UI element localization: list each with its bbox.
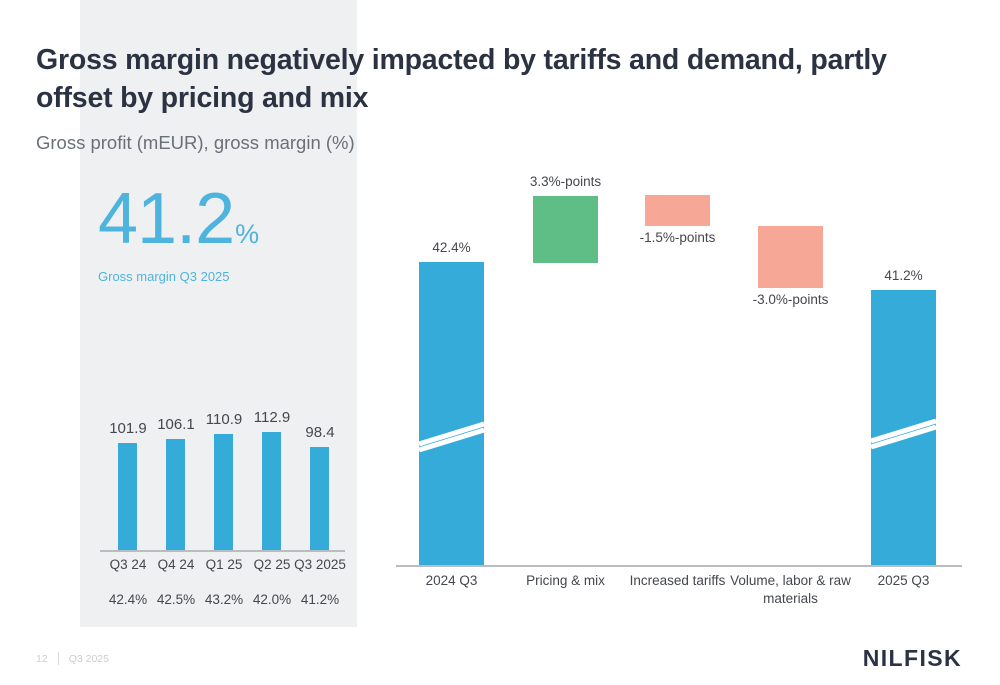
footer-page-number: 12 bbox=[36, 653, 48, 665]
kpi-gross-margin: 41.2% bbox=[98, 183, 259, 255]
mini-bar-value-label: 98.4 bbox=[290, 424, 350, 441]
mini-bar bbox=[118, 443, 137, 550]
nilfisk-logo: NILFISK bbox=[863, 645, 962, 672]
page-subtitle: Gross profit (mEUR), gross margin (%) bbox=[36, 132, 355, 154]
page-title: Gross margin negatively impacted by tari… bbox=[36, 42, 966, 117]
kpi-label: Gross margin Q3 2025 bbox=[98, 269, 230, 284]
waterfall-category-label: Increased tariffs bbox=[603, 572, 753, 590]
mini-chart-axis bbox=[100, 550, 345, 552]
footer: 12 Q3 2025 bbox=[36, 652, 109, 665]
waterfall-category-label: Volume, labor & raw materials bbox=[716, 572, 866, 608]
mini-bar bbox=[166, 439, 185, 550]
mini-bar bbox=[310, 447, 329, 550]
waterfall-category-label: 2024 Q3 bbox=[377, 572, 527, 590]
mini-bar bbox=[262, 432, 281, 550]
slide-canvas: Gross margin negatively impacted by tari… bbox=[0, 0, 1000, 685]
waterfall-bar bbox=[645, 195, 710, 226]
waterfall-bar bbox=[533, 196, 598, 263]
mini-bar-category-label: Q3 2025 bbox=[290, 557, 350, 572]
waterfall-category-label: 2025 Q3 bbox=[829, 572, 979, 590]
axis-break-mark-icon bbox=[871, 415, 936, 449]
waterfall-value-label: -3.0%-points bbox=[716, 292, 866, 307]
kpi-unit: % bbox=[235, 219, 259, 249]
waterfall-value-label: 3.3%-points bbox=[491, 174, 641, 189]
waterfall-value-label: 41.2% bbox=[829, 268, 979, 283]
footer-period: Q3 2025 bbox=[69, 653, 109, 665]
waterfall-category-label: Pricing & mix bbox=[491, 572, 641, 590]
mini-bar bbox=[214, 434, 233, 550]
waterfall-bar bbox=[758, 226, 823, 288]
waterfall-value-label: 42.4% bbox=[377, 240, 527, 255]
footer-separator bbox=[58, 652, 59, 665]
waterfall-bar bbox=[871, 290, 936, 565]
waterfall-axis bbox=[396, 565, 962, 567]
axis-break-mark-icon bbox=[419, 418, 484, 452]
waterfall-value-label: -1.5%-points bbox=[603, 230, 753, 245]
gross-profit-bar-chart: 101.9Q3 2442.4%106.1Q4 2442.5%110.9Q1 25… bbox=[100, 420, 345, 625]
mini-bar-margin-label: 41.2% bbox=[290, 592, 350, 607]
waterfall-bar bbox=[419, 262, 484, 565]
kpi-value: 41.2 bbox=[98, 179, 234, 259]
